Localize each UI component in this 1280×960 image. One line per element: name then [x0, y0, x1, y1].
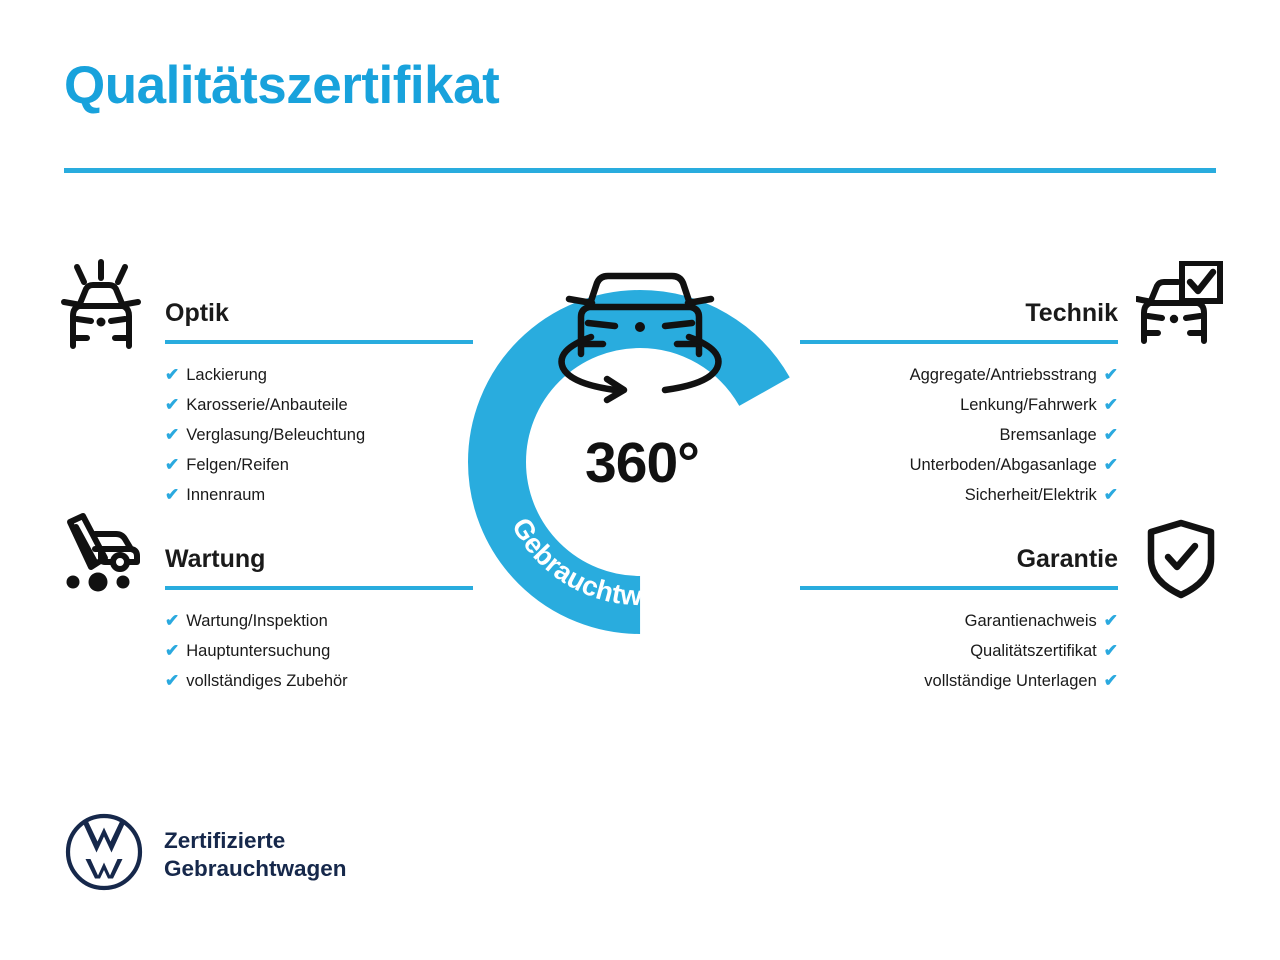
section-title-garantie: Garantie — [800, 544, 1118, 574]
list-item-label: Innenraum — [186, 480, 265, 510]
check-icon: ✔ — [1104, 450, 1118, 480]
section-title-technik: Technik — [800, 298, 1118, 328]
section-header-wartung: Wartung — [165, 544, 473, 590]
list-item-label: vollständige Unterlagen — [924, 666, 1096, 696]
list-item: Qualitätszertifikat ✔ — [800, 636, 1118, 666]
checklist-garantie: Garantienachweis ✔ Qualitätszertifikat ✔… — [800, 606, 1118, 696]
list-item-label: Garantienachweis — [965, 606, 1097, 636]
list-item: ✔ vollständiges Zubehör — [165, 666, 473, 696]
footer-brand: Zertifizierte Gebrauchtwagen — [64, 812, 347, 897]
list-item: ✔ Innenraum — [165, 480, 473, 510]
check-icon: ✔ — [165, 480, 179, 510]
section-wartung: Wartung ✔ Wartung/Inspektion ✔ Hauptunte… — [165, 544, 473, 696]
list-item: ✔ Verglasung/Beleuchtung — [165, 420, 473, 450]
check-icon: ✔ — [165, 450, 179, 480]
list-item: ✔ Karosserie/Anbauteile — [165, 390, 473, 420]
list-item: Unterboden/Abgasanlage ✔ — [800, 450, 1118, 480]
list-item: Sicherheit/Elektrik ✔ — [800, 480, 1118, 510]
section-divider-garantie — [800, 586, 1118, 590]
list-item-label: vollständiges Zubehör — [186, 666, 347, 696]
footer-brand-line-2: Gebrauchtwagen — [164, 855, 347, 883]
check-icon: ✔ — [1104, 360, 1118, 390]
checklist-wartung: ✔ Wartung/Inspektion ✔ Hauptuntersuchung… — [165, 606, 473, 696]
section-header-technik: Technik — [800, 298, 1118, 344]
section-optik: Optik ✔ Lackierung ✔ Karosserie/Anbautei… — [165, 298, 473, 510]
list-item: ✔ Felgen/Reifen — [165, 450, 473, 480]
list-item: Lenkung/Fahrwerk ✔ — [800, 390, 1118, 420]
section-header-optik: Optik — [165, 298, 473, 344]
section-divider-technik — [800, 340, 1118, 344]
section-garantie: Garantie Garantienachweis ✔ Qualitätszer… — [800, 544, 1118, 696]
list-item: ✔ Wartung/Inspektion — [165, 606, 473, 636]
list-item-label: Verglasung/Beleuchtung — [186, 420, 365, 450]
list-item-label: Aggregate/Antriebsstrang — [910, 360, 1097, 390]
footer-brand-text: Zertifizierte Gebrauchtwagen — [164, 827, 347, 883]
service-pen-car-icon — [57, 512, 149, 599]
list-item-label: Wartung/Inspektion — [186, 606, 328, 636]
check-icon: ✔ — [165, 606, 179, 636]
section-title-optik: Optik — [165, 298, 473, 328]
checklist-optik: ✔ Lackierung ✔ Karosserie/Anbauteile ✔ V… — [165, 360, 473, 510]
header-divider — [64, 168, 1216, 173]
list-item: vollständige Unterlagen ✔ — [800, 666, 1118, 696]
section-divider-optik — [165, 340, 473, 344]
shield-check-icon — [1146, 519, 1216, 604]
check-icon: ✔ — [1104, 390, 1118, 420]
check-icon: ✔ — [1104, 420, 1118, 450]
list-item-label: Hauptuntersuchung — [186, 636, 330, 666]
check-icon: ✔ — [165, 360, 179, 390]
list-item-label: Felgen/Reifen — [186, 450, 289, 480]
list-item-label: Lenkung/Fahrwerk — [960, 390, 1097, 420]
section-header-garantie: Garantie — [800, 544, 1118, 590]
check-icon: ✔ — [165, 390, 179, 420]
list-item-label: Karosserie/Anbauteile — [186, 390, 347, 420]
car-checkbox-icon — [1136, 261, 1224, 350]
page-title: Qualitätszertifikat — [64, 58, 499, 114]
list-item-label: Bremsanlage — [1000, 420, 1097, 450]
check-icon: ✔ — [165, 420, 179, 450]
quality-certificate-page: Qualitätszertifikat — [0, 0, 1280, 960]
list-item: Bremsanlage ✔ — [800, 420, 1118, 450]
list-item: Garantienachweis ✔ — [800, 606, 1118, 636]
check-icon: ✔ — [165, 636, 179, 666]
check-icon: ✔ — [1104, 666, 1118, 696]
check-icon: ✔ — [165, 666, 179, 696]
section-technik: Technik Aggregate/Antriebsstrang ✔ Lenku… — [800, 298, 1118, 510]
list-item-label: Sicherheit/Elektrik — [965, 480, 1097, 510]
footer-brand-line-1: Zertifizierte — [164, 827, 347, 855]
list-item: Aggregate/Antriebsstrang ✔ — [800, 360, 1118, 390]
section-divider-wartung — [165, 586, 473, 590]
volkswagen-logo — [64, 812, 144, 897]
car-front-shine-icon — [57, 258, 145, 355]
gebrauchtwagen-check-badge: Gebrauchtwagen-Check 360° — [455, 250, 825, 640]
list-item-label: Lackierung — [186, 360, 267, 390]
check-icon: ✔ — [1104, 606, 1118, 636]
list-item-label: Unterboden/Abgasanlage — [910, 450, 1097, 480]
list-item-label: Qualitätszertifikat — [970, 636, 1097, 666]
section-title-wartung: Wartung — [165, 544, 473, 574]
check-icon: ✔ — [1104, 636, 1118, 666]
check-icon: ✔ — [1104, 480, 1118, 510]
list-item: ✔ Lackierung — [165, 360, 473, 390]
checklist-technik: Aggregate/Antriebsstrang ✔ Lenkung/Fahrw… — [800, 360, 1118, 510]
list-item: ✔ Hauptuntersuchung — [165, 636, 473, 666]
